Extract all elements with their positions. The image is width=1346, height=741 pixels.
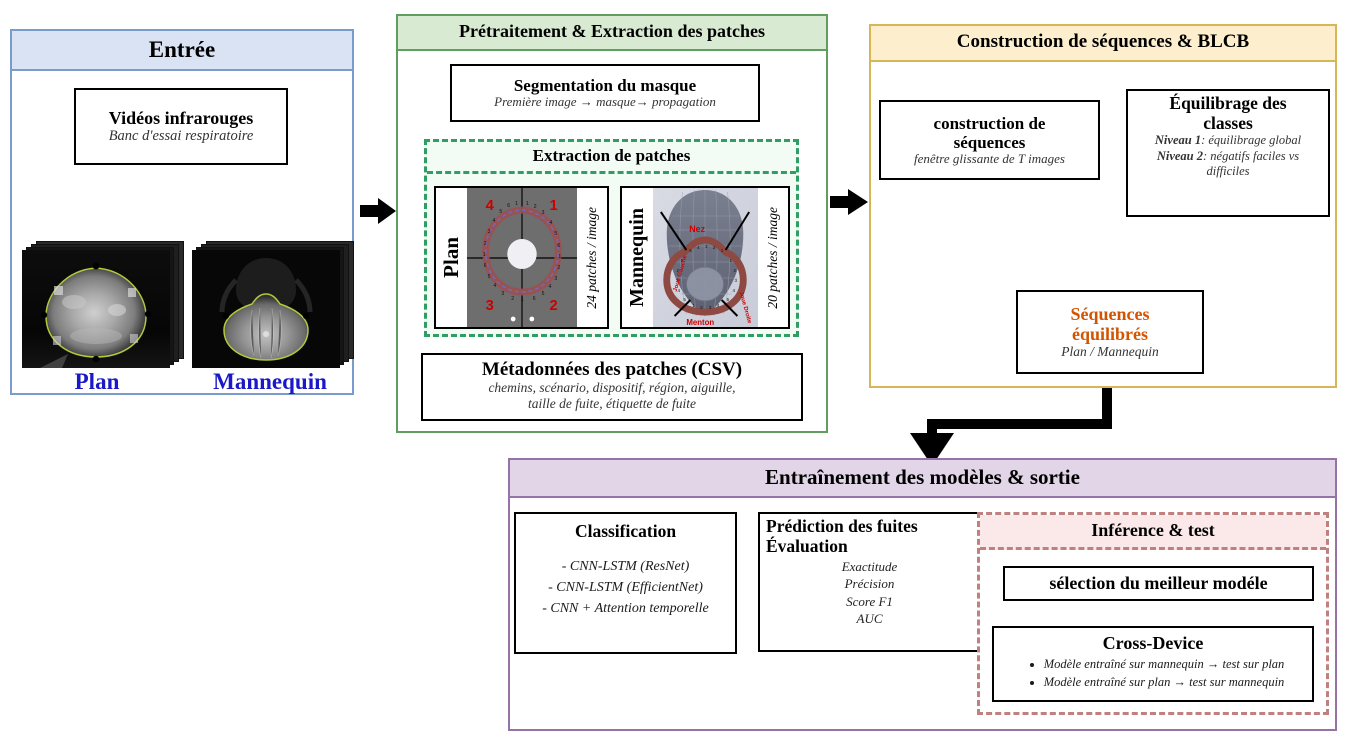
balanced-title-line2: équilibrés [1072,324,1148,344]
equilibrage-level1-key: Niveau 1 [1155,133,1201,147]
equilibrage-level2-key: Niveau 2 [1157,149,1203,163]
svg-text:5: 5 [488,274,491,280]
device-label-plan: Plan [22,369,172,395]
patch-mannequin-count-label: 20 patches / image [765,207,781,309]
box-selection-meilleur-modele: sélection du meilleur modéle [1003,566,1314,601]
patch-card-plan-count: 24 patches / image [577,188,607,327]
extraction-header: Extraction de patches [427,142,796,174]
svg-text:1: 1 [521,297,524,303]
patch-card-mannequin-count: 20 patches / image [758,188,788,327]
arrow-entree-to-pretraitement [360,198,396,224]
svg-text:2: 2 [511,296,514,302]
equilibrage-level2-value: : négatifs faciles vs [1203,149,1299,163]
svg-text:1: 1 [550,198,558,214]
panel-entree-header: Entrée [12,31,352,71]
patch-card-plan-device: Plan [436,188,467,327]
svg-text:3: 3 [554,276,557,282]
svg-text:5: 5 [542,291,545,297]
metric-precision: Précision [842,575,898,592]
classification-title: Classification [575,522,676,542]
thumbnail-plan-image [22,250,170,368]
box-metadonnees-csv: Métadonnées des patches (CSV) chemins, s… [421,353,803,421]
box-sequences-equilibres: Séquences équilibrés Plan / Mannequin [1016,290,1204,374]
metric-score-f1: Score F1 [842,593,898,610]
cross-device-list: Modèle entraîné sur mannequin → test sur… [1022,655,1285,691]
segmentation-title: Segmentation du masque [514,76,696,95]
selection-label: sélection du meilleur modéle [1049,573,1267,593]
metadata-line1: chemins, scénario, dispositif, région, a… [488,380,735,396]
panel-blcb-header: Construction de séquences & BLCB [871,26,1335,62]
panel-pretraitement-header: Prétraitement & Extraction des patches [398,16,826,51]
svg-text:5: 5 [554,231,557,237]
metadata-title: Métadonnées des patches (CSV) [482,359,742,380]
box-equilibrage-classes: Équilibrage des classes Niveau 1: équili… [1126,89,1330,217]
metadata-line2: taille de fuite, étiquette de fuite [528,396,696,412]
equilibrage-level2-cont: difficiles [1206,164,1249,179]
box-segmentation-masque: Segmentation du masque Première image → … [450,64,760,122]
svg-text:6: 6 [484,263,487,269]
svg-text:5: 5 [499,209,502,215]
svg-text:1: 1 [515,201,518,207]
svg-text:3: 3 [488,229,491,235]
device-label-mannequin: Mannequin [185,369,355,395]
equilibrage-level1-value: : équilibrage global [1201,133,1301,147]
svg-text:6: 6 [507,203,510,209]
box-cross-device: Cross-Device Modèle entraîné sur mannequ… [992,626,1314,702]
diagram-canvas: Entrée Vidéos infrarouges Banc d'essai r… [0,0,1346,741]
metric-auc: AUC [842,610,898,627]
label-menton: Menton [686,318,714,327]
patch-mannequin-device-label: Mannequin [626,208,649,307]
metric-exactitude: Exactitude [842,558,898,575]
svg-text:6: 6 [533,296,536,302]
cross-device-item-0: Modèle entraîné sur mannequin → test sur… [1044,655,1285,673]
videos-subtitle: Banc d'essai respiratoire [109,128,254,145]
equilibrage-title-line1: Équilibrage des [1169,94,1286,114]
box-videos-infrarouges: Vidéos infrarouges Banc d'essai respirat… [74,88,288,165]
patch-card-mannequin: Mannequin [620,186,790,329]
classification-item-2: - CNN + Attention temporelle [542,598,709,619]
svg-text:3: 3 [542,210,545,216]
svg-text:4: 4 [493,218,496,224]
svg-text:2: 2 [534,204,537,210]
patch-plan-count-label: 24 patches / image [584,207,600,309]
balanced-subtitle: Plan / Mannequin [1061,344,1159,360]
svg-text:1: 1 [526,201,529,207]
patch-plan-device-label: Plan [439,237,464,278]
balanced-title-line1: Séquences [1070,304,1149,324]
equilibrage-level2: Niveau 2: négatifs faciles vs [1157,149,1299,165]
equilibrage-title-line2: classes [1203,114,1253,134]
svg-text:4: 4 [494,283,497,289]
sequences-subtitle: fenêtre glissante de T images [914,152,1065,167]
videos-title: Vidéos infrarouges [109,108,254,128]
thumbnail-mannequin-image [192,250,340,368]
svg-text:1: 1 [558,254,561,260]
svg-text:2: 2 [484,241,487,247]
patch-mannequin-image: 543 21 11 22 33 44 55 12 34 Nez Joue Gau… [653,188,758,327]
box-prediction-evaluation: Prédiction des fuites Évaluation Exactit… [758,512,981,652]
cross-device-item-1: Modèle entraîné sur plan → test sur mann… [1044,673,1285,691]
equilibrage-level1: Niveau 1: équilibrage global [1155,133,1301,149]
patch-card-mannequin-device: Mannequin [622,188,653,327]
svg-text:2: 2 [557,265,560,271]
arrow-pretraitement-to-blcb [830,189,868,215]
thumbnail-stack-mannequin [192,241,357,366]
classification-item-1: - CNN-LSTM (EfficientNet) [548,577,703,598]
svg-text:4: 4 [486,198,495,214]
svg-text:3: 3 [501,291,504,297]
patch-plan-image: 61 12 53 44 35 26 11 62 53 44 35 26 1 4 … [467,188,577,327]
label-nez: Nez [689,224,705,234]
svg-text:6: 6 [557,243,560,249]
segmentation-subtitle: Première image → masque→ propagation [494,95,716,110]
svg-text:4: 4 [550,220,553,226]
classification-item-0: - CNN-LSTM (ResNet) [562,556,690,577]
box-classification: Classification - CNN-LSTM (ResNet) - CNN… [514,512,737,654]
svg-text:4: 4 [549,284,552,290]
svg-text:1: 1 [483,252,486,258]
inference-header: Inférence & test [980,515,1326,550]
panel-entrainement-header: Entraînement des modèles & sortie [510,460,1335,498]
cross-device-title: Cross-Device [1103,633,1204,653]
sequences-title-line1: construction de [934,114,1046,133]
box-construction-sequences: construction de séquences fenêtre glissa… [879,100,1100,180]
sequences-title-line2: séquences [954,133,1026,152]
thumbnail-stack-plan [22,241,187,366]
prediction-title-line1: Prédiction des fuites [766,517,918,537]
arrow-blcb-to-entrainement [910,388,1107,466]
prediction-title-line2: Évaluation [766,537,848,557]
svg-text:3: 3 [486,298,494,314]
patch-card-plan: Plan 61 12 53 44 35 26 11 [434,186,609,329]
svg-text:2: 2 [550,298,558,314]
